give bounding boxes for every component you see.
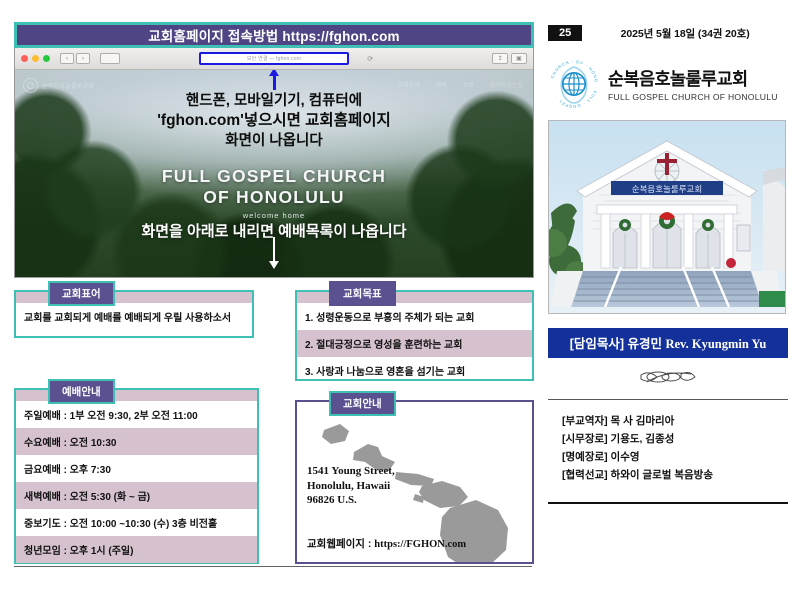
- church-website-label: 교회웹페이지 :: [307, 538, 374, 550]
- issue-date: 2025년 5월 18일 (34권 20호): [582, 26, 788, 41]
- site-nav-item-2[interactable]: 주보: [463, 80, 474, 89]
- hero-instruction-line2: 'fghon.com'넣으시면 교회홈페이지: [15, 111, 533, 131]
- site-globe-icon: [23, 78, 38, 93]
- website-howto-banner: 교회홈페이지 접속방법 https://fghon.com: [14, 22, 534, 48]
- site-logo-label: 순복음호놀룰루교회: [42, 81, 94, 90]
- left-column: 교회홈페이지 접속방법 https://fghon.com ‹ › 보안 연결 …: [14, 22, 534, 278]
- site-nav-item-0[interactable]: 교회소개: [398, 80, 420, 89]
- hero-instruction-text: 핸드폰, 모바일기기, 컴퓨터에 'fghon.com'넣으시면 교회홈페이지 …: [15, 92, 533, 151]
- church-address-line2: Honolulu, Hawaii: [307, 479, 395, 494]
- church-building-photo: 순복음호놀룰루교회: [548, 120, 786, 314]
- staff-row: [시무장로] 기용도, 김종성: [562, 430, 788, 448]
- back-icon[interactable]: ‹: [60, 53, 74, 64]
- site-logo[interactable]: 순복음호놀룰루교회: [23, 78, 94, 93]
- site-nav-item-1[interactable]: 예배: [436, 80, 447, 89]
- worship-row: 수요예배 : 오전 10:30: [16, 428, 257, 455]
- church-globe-emblem: CHURCH · OF · HONOLULU FULL · GOSPEL ·: [548, 58, 600, 110]
- close-window-icon[interactable]: [21, 55, 28, 62]
- church-slogan-text: 교회를 교회되게 예배를 예배되게 우릴 사용하소서: [16, 303, 252, 330]
- hero-church-title-line1: FULL GOSPEL CHURCH: [15, 166, 533, 187]
- website-howto-banner-text: 교회홈페이지 접속방법 https://fghon.com: [148, 25, 399, 45]
- church-address-line1: 1541 Young Street,: [307, 464, 395, 479]
- church-slogan-tab: 교회표어: [48, 281, 115, 306]
- church-info-box: 교회안내 1541 Young Street, Honolulu, Hawaii: [295, 400, 534, 564]
- church-address-line3: 96826 U.S.: [307, 493, 395, 508]
- church-staff-list: [부교역자] 목 사 김마리아 [시무장로] 기용도, 김종성 [명예장로] 이…: [548, 412, 788, 484]
- share-icon[interactable]: ↥: [492, 53, 508, 64]
- worship-row: 중보기도 : 오전 10:00 ~10:30 (수) 3층 비전홀: [16, 509, 257, 536]
- worship-row: 주일예배 : 1부 오전 9:30, 2부 오전 11:00: [16, 401, 257, 428]
- browser-screenshot: ‹ › 보안 연결 — fghon.com ⟳ ↥ ▣ 순복음호놀룰루교회: [14, 48, 534, 278]
- worship-row: 청년모임 : 오후 1시 (주일): [16, 536, 257, 563]
- right-column: 25 2025년 5월 18일 (34권 20호) CHURCH · OF · …: [548, 22, 788, 504]
- scroll-down-arrow-icon: [267, 237, 281, 271]
- forward-icon[interactable]: ›: [76, 53, 90, 64]
- staff-row: [협력선교] 하와이 글로벌 복음방송: [562, 466, 788, 484]
- worship-row: 금요예배 : 오후 7:30: [16, 455, 257, 482]
- issue-number-badge: 25: [548, 25, 582, 41]
- church-goal-item: 1. 성령운동으로 부흥의 주체가 되는 교회: [297, 303, 532, 330]
- church-goal-item: 3. 사랑과 나눔으로 영혼을 섬기는 교회: [297, 357, 532, 384]
- senior-pastor-english: Rev. Kyungmin Yu: [665, 337, 766, 351]
- worship-schedule-box: 예배안내 주일예배 : 1부 오전 9:30, 2부 오전 11:00 수요예배…: [14, 388, 259, 564]
- church-brand-text: 순복음호놀룰루교회 FULL GOSPEL CHURCH OF HONOLULU: [608, 66, 778, 102]
- bulletin-page: 교회홈페이지 접속방법 https://fghon.com ‹ › 보안 연결 …: [0, 0, 792, 612]
- toolbar-right-buttons: ↥ ▣: [492, 53, 527, 64]
- hero-instruction-line2b: 넣으시면 교회홈페이지: [244, 112, 391, 129]
- reload-icon[interactable]: ⟳: [367, 55, 373, 63]
- maximize-window-icon[interactable]: [43, 55, 50, 62]
- church-website-line: 교회웹페이지 : https://FGHON.com: [307, 536, 466, 551]
- staff-top-divider: [548, 399, 788, 400]
- staff-row: [명예장로] 이수영: [562, 448, 788, 466]
- staff-row: [부교역자] 목 사 김마리아: [562, 412, 788, 430]
- hero-instruction-line3: 화면이 나옵니다: [15, 132, 533, 151]
- senior-pastor-banner: [담임목사] 유경민 Rev. Kyungmin Yu: [548, 328, 788, 358]
- hero-domain-text: 'fghon.com': [157, 112, 244, 129]
- sidebar-toggle-icon[interactable]: [100, 53, 120, 64]
- worship-row: 새벽예배 : 오전 5:30 (화 ~ 금): [16, 482, 257, 509]
- site-nav[interactable]: 교회소개 예배 주보 찾아오시는길: [398, 80, 523, 89]
- svg-text:FULL · GOSPEL ·: FULL · GOSPEL ·: [554, 90, 598, 109]
- browser-toolbar: ‹ › 보안 연결 — fghon.com ⟳ ↥ ▣: [15, 48, 533, 70]
- church-goal-item: 2. 절대긍정으로 영성을 훈련하는 교회: [297, 330, 532, 357]
- church-name-korean: 순복음호놀룰루교회: [608, 66, 778, 91]
- website-hero: 순복음호놀룰루교회 교회소개 예배 주보 찾아오시는길 핸드폰, 모바일기기, …: [15, 70, 533, 277]
- right-column-bottom-rule: [548, 502, 788, 504]
- church-goals-box: 교회목표 1. 성령운동으로 부흥의 주체가 되는 교회 2. 절대긍정으로 영…: [295, 290, 534, 381]
- senior-pastor-korean: [담임목사] 유경민: [570, 337, 666, 351]
- church-info-tab: 교회안내: [329, 391, 396, 416]
- church-address: 1541 Young Street, Honolulu, Hawaii 9682…: [307, 464, 395, 508]
- hero-welcome-text: welcome home: [15, 211, 533, 220]
- svg-text:순복음호놀룰루교회: 순복음호놀룰루교회: [632, 184, 702, 194]
- address-bar-text: 보안 연결 — fghon.com: [247, 55, 301, 62]
- site-nav-item-3[interactable]: 찾아오시는길: [490, 80, 523, 89]
- church-name-english: FULL GOSPEL CHURCH OF HONOLULU: [608, 92, 778, 102]
- ornamental-divider: [548, 368, 788, 391]
- left-column-bottom-rule: [14, 566, 532, 567]
- worship-schedule-tab: 예배안내: [48, 379, 115, 404]
- address-bar[interactable]: 보안 연결 — fghon.com: [199, 52, 349, 65]
- hero-church-title: FULL GOSPEL CHURCH OF HONOLULU: [15, 166, 533, 207]
- church-brand: CHURCH · OF · HONOLULU FULL · GOSPEL · 순…: [548, 58, 788, 110]
- tabs-icon[interactable]: ▣: [511, 53, 527, 64]
- church-slogan-box: 교회표어 교회를 교회되게 예배를 예배되게 우릴 사용하소서: [14, 290, 254, 338]
- hero-instruction-line1: 핸드폰, 모바일기기, 컴퓨터에: [15, 92, 533, 111]
- bulletin-header: 25 2025년 5월 18일 (34권 20호): [548, 22, 788, 44]
- church-website-url[interactable]: https://FGHON.com: [374, 539, 466, 550]
- minimize-window-icon[interactable]: [32, 55, 39, 62]
- hero-church-title-line2: OF HONOLULU: [15, 187, 533, 208]
- hawaii-map-wrap: 1541 Young Street, Honolulu, Hawaii 9682…: [297, 402, 532, 562]
- church-goals-tab: 교회목표: [329, 281, 396, 306]
